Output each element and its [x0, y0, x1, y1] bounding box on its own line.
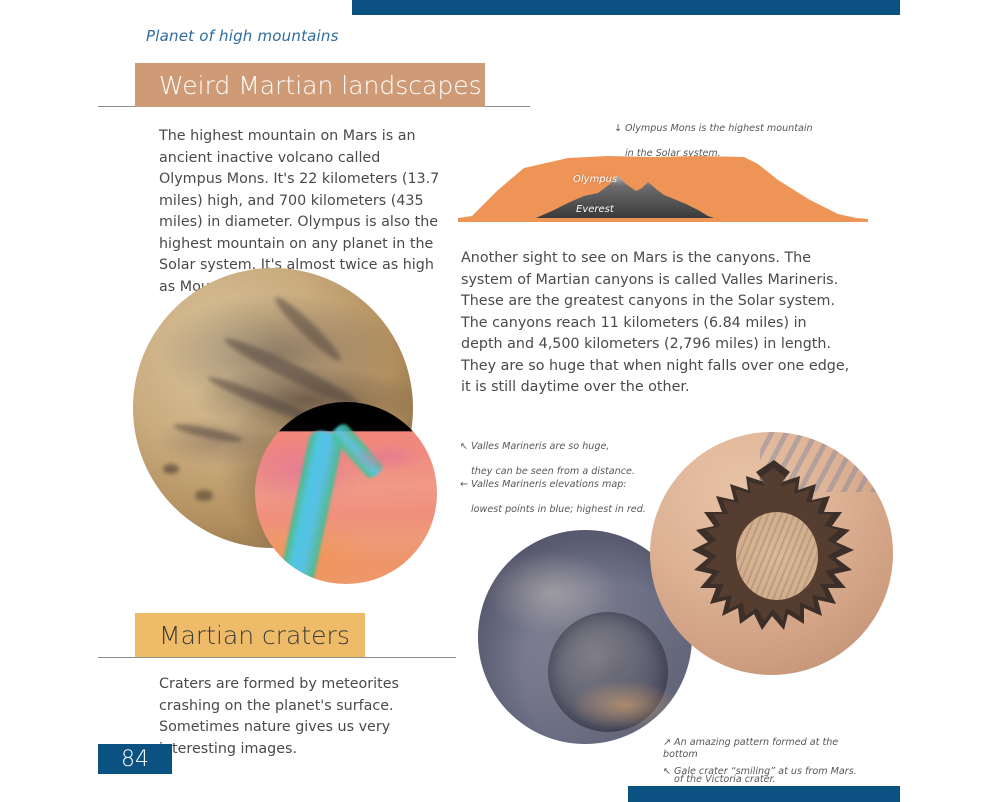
arrow-down-icon: ↓ [614, 123, 625, 136]
diagram-label-everest: Everest [576, 204, 614, 215]
arrow-up-left-icon: ↖ [663, 766, 674, 779]
body-text-craters: Craters are formed by meteorites crashin… [159, 674, 439, 760]
crater-floor-dunes [736, 512, 818, 600]
surface-feature [195, 490, 213, 501]
arrow-up-left-icon: ↖ [460, 441, 471, 454]
canyon-rim [351, 442, 425, 472]
caption-line-2: lowest points in blue; highest in red. [460, 504, 646, 515]
caption-line-1: Gale crater “smiling” at us from Mars. [674, 766, 857, 777]
caption-line-1: Valles Marineris are so huge, [471, 441, 609, 452]
section-heading-craters: Martian craters [135, 613, 365, 657]
diagram-label-olympus: Olympus [573, 174, 617, 185]
arrow-left-icon: ← [460, 479, 471, 492]
olympus-mons-diagram: Olympus Everest [458, 146, 868, 222]
body-text-canyons: Another sight to see on Mars is the cany… [461, 248, 851, 399]
page-number: 84 [98, 744, 172, 774]
heading-rule-2 [98, 657, 456, 658]
surface-feature [163, 464, 179, 474]
caption-line-1: Valles Marineris elevations map: [471, 479, 627, 490]
surface-feature [173, 421, 244, 445]
running-head: Planet of high mountains [146, 27, 339, 45]
valles-marineris-elevation-map [255, 402, 437, 584]
caption-line-1: Olympus Mons is the highest mountain [625, 123, 813, 134]
section-heading-landscapes: Weird Martian landscapes [135, 63, 485, 107]
surface-feature [271, 293, 345, 366]
surface-feature [221, 332, 363, 412]
victoria-crater-photo [650, 432, 893, 675]
caption-gale-crater: ↖Gale crater “smiling” at us from Mars. [663, 753, 893, 778]
arrow-up-right-icon: ↗ [663, 737, 674, 750]
decorative-bar-top [352, 0, 900, 15]
crater-sunlit-edge [570, 680, 680, 730]
document-page: Planet of high mountains Weird Martian l… [0, 0, 1000, 800]
caption-valles-marineris-map: ←Valles Marineris elevations map: lowest… [460, 466, 660, 516]
